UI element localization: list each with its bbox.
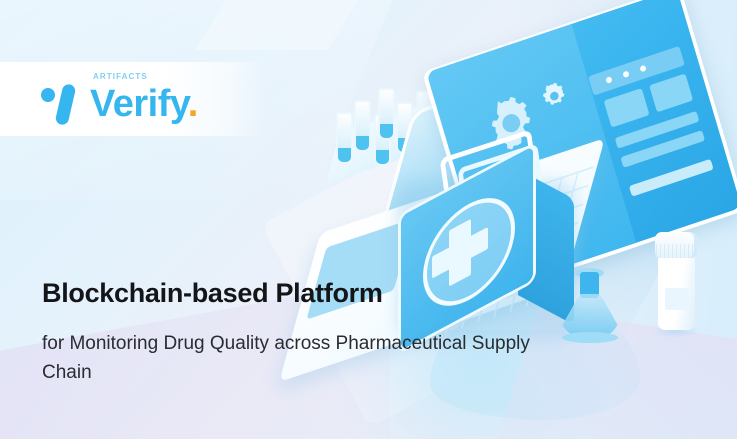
logo-dot-shape <box>41 88 55 102</box>
flask-icon <box>560 272 620 342</box>
content-line <box>629 159 714 197</box>
content-tile <box>649 73 693 112</box>
verify-checkmark-icon <box>40 81 88 125</box>
bottle-cap-ridges <box>656 244 696 258</box>
page-title: Blockchain-based Platform <box>42 279 383 309</box>
flask-base <box>562 332 618 343</box>
brand-name: Verify. <box>90 85 198 123</box>
logo-banner: ARTIFACTS Verify. <box>0 62 266 136</box>
brand-kicker: ARTIFACTS <box>93 73 148 81</box>
brand-period: . <box>188 83 198 125</box>
test-tube-icon <box>354 100 371 152</box>
test-tube-icon <box>378 88 395 140</box>
brand-logo[interactable]: ARTIFACTS Verify. <box>0 74 198 125</box>
brand-name-text: Verify <box>90 83 188 125</box>
first-aid-kit-icon <box>400 150 566 322</box>
slide-canvas: ARTIFACTS Verify. Blockchain-based Platf… <box>0 0 737 439</box>
content-tile <box>604 88 650 128</box>
pill-bottle-icon <box>652 232 700 336</box>
brand-wordmark: ARTIFACTS Verify. <box>90 74 198 125</box>
logo-bar-shape <box>55 83 77 126</box>
test-tube-icon <box>336 112 353 164</box>
bottle-label <box>665 288 689 310</box>
page-subtitle: for Monitoring Drug Quality across Pharm… <box>42 329 542 388</box>
